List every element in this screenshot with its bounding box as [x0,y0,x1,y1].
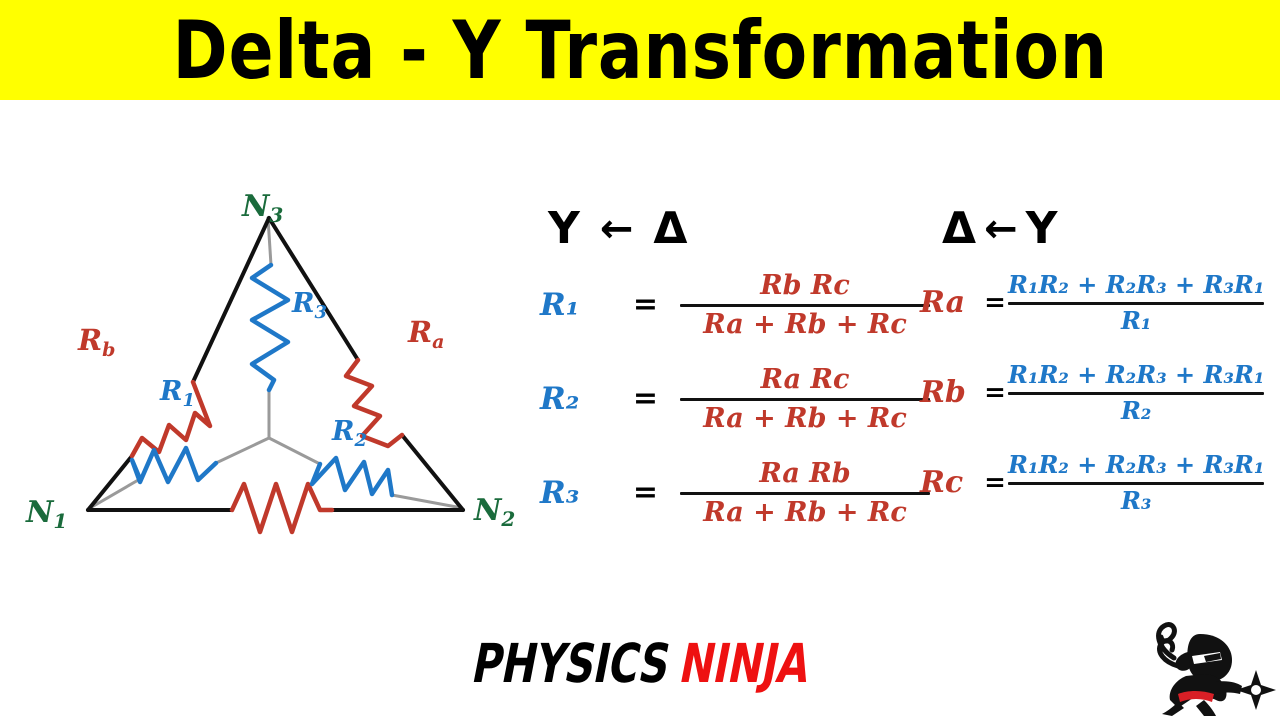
fraction-denominator: R₂ [1121,398,1151,424]
fraction-bar [1008,392,1264,395]
fraction-denominator: Ra + Rb + Rc [703,310,907,340]
equation-lhs: Rc [920,468,982,498]
fraction-bar [680,398,930,401]
fraction-denominator: R₃ [1121,488,1151,514]
equation-r1: R₁ = Rb Rc Ra + Rb + Rc [540,258,930,352]
resistor-r3-zigzag [252,265,288,390]
equals-sign: = [982,290,1008,316]
fraction-numerator: Rb Rc [760,271,850,301]
content-stage: N3 N1 N2 Rb Ra Rc R3 R1 R2 Y ← Δ R₁ [0,100,1280,720]
fraction-numerator: Ra Rc [761,365,850,395]
equation-rc: Rc = R₁R₂ + R₂R₃ + R₃R₁ R₃ [920,438,1270,528]
equation-lhs: Ra [920,288,982,318]
fraction-bar [1008,482,1264,485]
equals-sign: = [611,290,680,320]
shuriken-icon [1236,670,1276,710]
fraction: R₁R₂ + R₂R₃ + R₃R₁ R₃ [1008,452,1264,514]
brand-word-physics: PHYSICS [468,638,674,692]
equation-lhs: R₃ [540,478,611,509]
fraction-bar [1008,302,1264,305]
fraction: Ra Rc Ra + Rb + Rc [680,365,930,433]
wye-symbol-icon: Y [1026,207,1058,251]
resistor-r2-zigzag [312,458,392,495]
equation-r3: R₃ = Ra Rb Ra + Rb + Rc [540,446,930,540]
resistor-label-r3: R3 [291,288,327,323]
fraction-numerator: R₁R₂ + R₂R₃ + R₃R₁ [1008,362,1264,388]
left-arrow-icon: ← [600,209,634,249]
equals-sign: = [611,384,680,414]
resistor-label-rb: Rb [77,323,115,361]
page-title: Delta - Y Transformation [172,10,1107,91]
title-banner: Delta - Y Transformation [0,0,1280,100]
equation-ra: Ra = R₁R₂ + R₂R₃ + R₃R₁ R₁ [920,258,1270,348]
fraction-denominator: Ra + Rb + Rc [703,404,907,434]
brand-word-ninja: NINJA [676,638,815,692]
left-arrow-icon: ← [984,209,1018,249]
brand-wordmark: PHYSICS NINJA [462,643,819,687]
equation-lhs: R₁ [540,290,611,321]
fraction: R₁R₂ + R₂R₃ + R₃R₁ R₁ [1008,272,1264,334]
delta-symbol-icon: Δ [653,207,687,251]
resistor-label-ra: Ra [407,315,444,353]
equation-lhs: R₂ [540,384,611,415]
fraction: Rb Rc Ra + Rb + Rc [680,271,930,339]
y-from-delta-heading: Y ← Δ [540,200,930,258]
fraction-denominator: Ra + Rb + Rc [703,498,907,528]
equation-rb: Rb = R₁R₂ + R₂R₃ + R₃R₁ R₂ [920,348,1270,438]
resistor-rc-zigzag [232,484,332,532]
equals-sign: = [611,478,680,508]
node-label-n1: N1 [25,495,67,533]
delta-from-y-heading: Δ ← Y [920,200,1270,258]
delta-from-y-section: Δ ← Y Ra = R₁R₂ + R₂R₃ + R₃R₁ R₁ Rb = R₁… [920,200,1270,528]
equals-sign: = [982,380,1008,406]
fraction: R₁R₂ + R₂R₃ + R₃R₁ R₂ [1008,362,1264,424]
wye-symbol-icon: Y [548,207,580,251]
equation-r2: R₂ = Ra Rc Ra + Rb + Rc [540,352,930,446]
fraction-numerator: Ra Rb [759,459,850,489]
y-from-delta-section: Y ← Δ R₁ = Rb Rc Ra + Rb + Rc R₂ = Ra Rc… [540,200,930,540]
fraction-denominator: R₁ [1121,308,1151,334]
fraction-numerator: R₁R₂ + R₂R₃ + R₃R₁ [1008,452,1264,478]
node-label-n3: N3 [241,190,283,227]
resistor-label-r2: R2 [331,416,367,451]
ninja-mascot-icon [1128,612,1278,716]
fraction-bar [680,492,930,495]
resistor-label-r1: R1 [159,376,195,411]
equals-sign: = [982,470,1008,496]
node-label-n2: N2 [473,493,515,531]
fraction-bar [680,304,930,307]
delta-symbol-icon: Δ [942,207,976,251]
fraction-numerator: R₁R₂ + R₂R₃ + R₃R₁ [1008,272,1264,298]
fraction: Ra Rb Ra + Rb + Rc [680,459,930,527]
delta-wye-circuit-diagram: N3 N1 N2 Rb Ra Rc R3 R1 R2 [20,190,540,550]
resistor-r1-zigzag [132,448,216,482]
equation-lhs: Rb [920,378,982,408]
